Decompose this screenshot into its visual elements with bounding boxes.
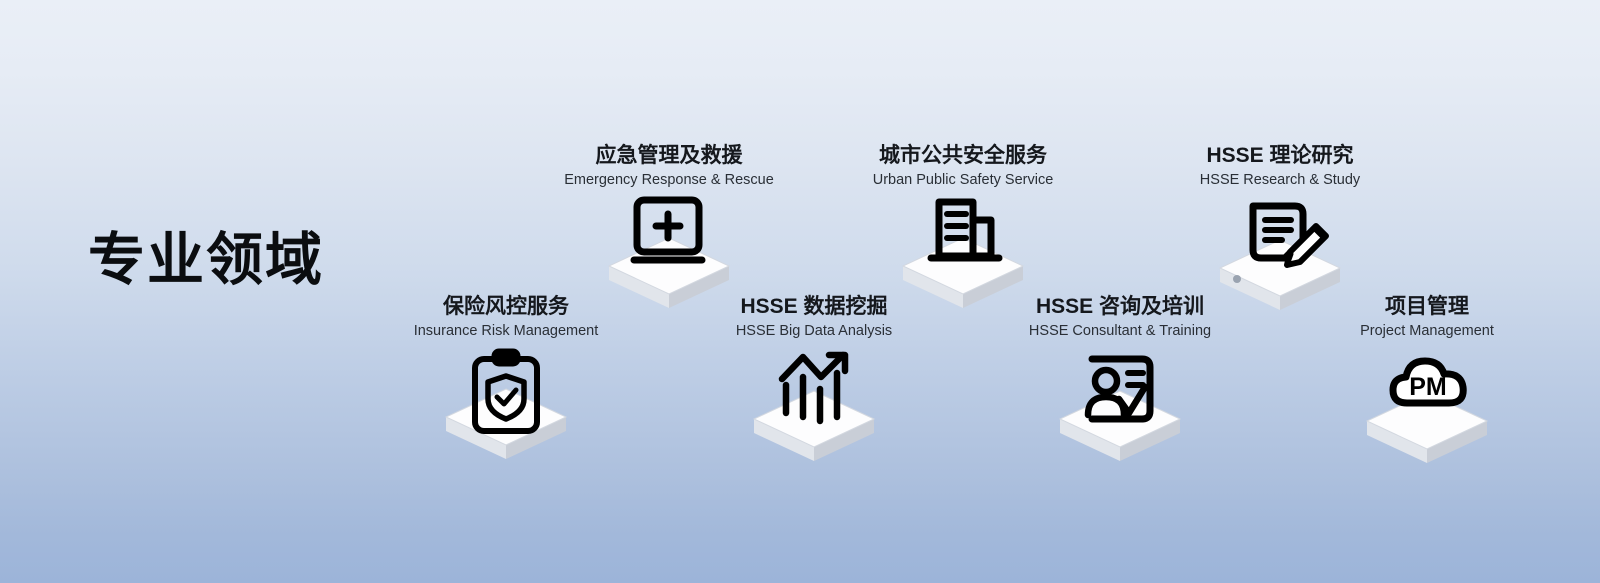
page-title: 专业领域: [88, 231, 324, 291]
domain-label-cn: 项目管理: [1277, 294, 1577, 320]
professional-domains-banner: 专业领域 保险风控服务 Insurance Risk Management: [0, 0, 1600, 583]
domain-icon-hsse-consultant-training: [970, 347, 1270, 467]
domain-label-cn: HSSE 理论研究: [1130, 143, 1430, 169]
domain-label-en: Urban Public Safety Service: [813, 170, 1113, 190]
domain-label-en: Insurance Risk Management: [356, 321, 656, 341]
domain-item-hsse-consultant-training[interactable]: HSSE 咨询及培训 HSSE Consultant & Training: [970, 294, 1270, 467]
domain-label-cn: 城市公共安全服务: [813, 143, 1113, 169]
domain-icon-insurance-risk-management: [356, 347, 656, 467]
domain-icon-hsse-big-data-analysis: [664, 347, 964, 467]
domain-item-hsse-research-study[interactable]: HSSE 理论研究 HSSE Research & Study: [1130, 143, 1430, 316]
domain-item-project-management[interactable]: 项目管理 Project Management PM: [1277, 294, 1577, 467]
domain-label-en: HSSE Consultant & Training: [970, 321, 1270, 341]
domain-item-hsse-big-data-analysis[interactable]: HSSE 数据挖掘 HSSE Big Data Analysis: [664, 294, 964, 467]
domain-icon-project-management: PM: [1277, 347, 1577, 467]
domain-label-cn: 应急管理及救援: [519, 143, 819, 169]
domain-label-en: HSSE Big Data Analysis: [664, 321, 964, 341]
domain-label-en: HSSE Research & Study: [1130, 170, 1430, 190]
domain-label-en: Emergency Response & Rescue: [519, 170, 819, 190]
domain-item-urban-public-safety-service[interactable]: 城市公共安全服务 Urban Public Safety Service: [813, 143, 1113, 316]
monitor-medical-plus-icon: [634, 200, 702, 260]
cloud-icon-text: PM: [1409, 373, 1447, 401]
domain-label-en: Project Management: [1277, 321, 1577, 341]
cloud-pm-icon: PM: [1393, 361, 1463, 403]
isometric-platform: [754, 391, 874, 461]
domain-item-emergency-response-rescue[interactable]: 应急管理及救援 Emergency Response & Rescue: [519, 143, 819, 316]
domain-item-insurance-risk-management[interactable]: 保险风控服务 Insurance Risk Management: [356, 294, 656, 467]
